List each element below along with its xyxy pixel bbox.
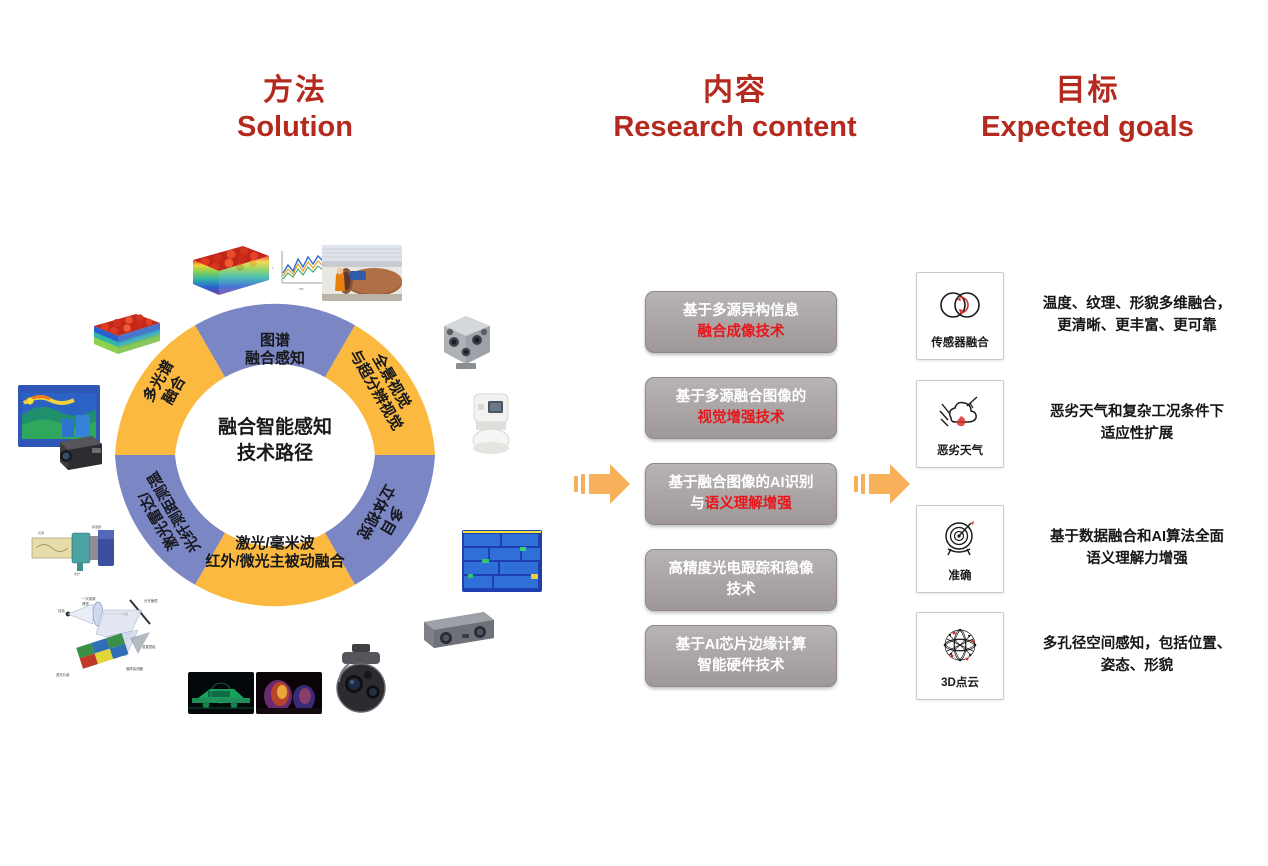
research-box-visual-enhancement-line2: 视觉增强技术 — [676, 408, 807, 429]
svg-text:光源: 光源 — [38, 530, 44, 535]
goal-card-bad-weather-label: 恶劣天气 — [917, 442, 1003, 458]
point-cloud-sphere-icon — [917, 622, 1003, 668]
column-header-goals-cn: 目标 — [945, 74, 1230, 108]
goal-text-bad-weather: 恶劣天气和复杂工况条件下 适应性扩展 — [1022, 401, 1252, 446]
imagery-night-vision-frame-b — [256, 672, 322, 714]
column-header-content: 内容 Research content — [600, 74, 870, 143]
imagery-night-vision-frame-a — [188, 672, 254, 714]
research-box-ai-chip-edge[interactable]: 基于AI芯片边缘计算 智能硬件技术 — [645, 625, 837, 687]
imagery-ptz-sensor-unit — [466, 390, 518, 456]
research-box-tracking-stabilization-line1: 高精度光电跟踪和稳像 — [669, 559, 814, 580]
research-box-ai-semantic[interactable]: 基于融合图像的AI识别 与语义理解增强 — [645, 463, 837, 525]
imagery-gimbal-eo-turret — [326, 640, 398, 718]
column-header-goals: 目标 Expected goals — [945, 74, 1230, 143]
wheel-label-spectral-fusion-sensing: 图谱 融合感知 — [220, 332, 330, 368]
goal-text-accuracy: 基于数据融合和AI算法全面 语义理解力增强 — [1022, 526, 1252, 571]
column-header-solution-cn: 方法 — [160, 74, 430, 108]
column-header-content-cn: 内容 — [600, 74, 870, 108]
goal-card-accuracy[interactable]: 准确 — [916, 505, 1004, 593]
target-dart-icon — [917, 515, 1003, 561]
imagery-thermal-wall-image — [462, 530, 542, 592]
goal-card-sensor-fusion-label: 传感器融合 — [917, 334, 1003, 350]
goal-text-point-cloud: 多孔径空间感知，包括位置、 姿态、形貌 — [1022, 633, 1252, 678]
svg-text:滤光片组: 滤光片组 — [56, 672, 70, 677]
svg-text:透镜: 透镜 — [82, 601, 89, 606]
svg-text:一次成像: 一次成像 — [82, 596, 96, 601]
research-box-ai-chip-edge-line1: 基于AI芯片边缘计算 — [676, 635, 807, 656]
research-box-tracking-stabilization[interactable]: 高精度光电跟踪和稳像 技术 — [645, 549, 837, 611]
technology-roadmap-wheel: 图谱 融合感知 全景视觉 与超分辨视觉 多目 立体视觉 激光/毫米波 红外/微光… — [110, 290, 440, 620]
research-box-fusion-imaging-line1: 基于多源异构信息 — [683, 301, 799, 322]
wheel-hub-line1: 融合智能感知 — [165, 415, 385, 441]
svg-text:面阵探测器: 面阵探测器 — [126, 666, 144, 671]
research-box-fusion-imaging-line2: 融合成像技术 — [683, 322, 799, 343]
research-box-ai-semantic-line1: 基于融合图像的AI识别 — [669, 473, 814, 494]
research-box-tracking-stabilization-line2: 技术 — [669, 580, 814, 601]
diagram-canvas: 方法 Solution 内容 Research content 目标 Expec… — [0, 0, 1268, 866]
rain-cloud-icon — [917, 390, 1003, 436]
svg-text:探测器: 探测器 — [92, 524, 101, 529]
research-box-ai-semantic-line2-prefix: 与 — [690, 496, 705, 512]
column-header-goals-en: Expected goals — [945, 111, 1230, 143]
research-box-visual-enhancement[interactable]: 基于多源融合图像的 视觉增强技术 — [645, 377, 837, 439]
imagery-camera-module-left — [52, 430, 108, 476]
goal-card-accuracy-label: 准确 — [917, 567, 1003, 583]
arrow-solution-to-content — [572, 458, 634, 510]
column-header-solution-en: Solution — [160, 111, 430, 143]
svg-text:准直镜组: 准直镜组 — [142, 644, 156, 649]
goal-card-point-cloud-label: 3D点云 — [917, 674, 1003, 690]
column-header-content-en: Research content — [600, 111, 870, 143]
arrow-content-to-goals — [852, 458, 914, 510]
venn-circles-icon — [917, 282, 1003, 328]
goal-card-sensor-fusion[interactable]: 传感器融合 — [916, 272, 1004, 360]
wheel-hub-label: 融合智能感知 技术路径 — [165, 415, 385, 466]
research-box-ai-semantic-line2: 语义理解增强 — [705, 496, 792, 512]
imagery-panoramic-camera-ball — [430, 308, 502, 374]
wheel-hub-line2: 技术路径 — [165, 441, 385, 467]
svg-text:光纤: 光纤 — [74, 571, 80, 576]
svg-text:目标: 目标 — [58, 608, 65, 613]
research-box-ai-chip-edge-line2: 智能硬件技术 — [676, 656, 807, 677]
goal-card-bad-weather[interactable]: 恶劣天气 — [916, 380, 1004, 468]
goal-text-sensor-fusion: 温度、纹理、形貌多维融合， 更清晰、更丰富、更可靠 — [1022, 293, 1252, 338]
research-box-visual-enhancement-line1: 基于多源融合图像的 — [676, 387, 807, 408]
research-box-fusion-imaging[interactable]: 基于多源异构信息 融合成像技术 — [645, 291, 837, 353]
goal-card-point-cloud[interactable]: 3D点云 — [916, 612, 1004, 700]
svg-text:Y: Y — [272, 266, 275, 269]
column-header-solution: 方法 Solution — [160, 74, 430, 143]
